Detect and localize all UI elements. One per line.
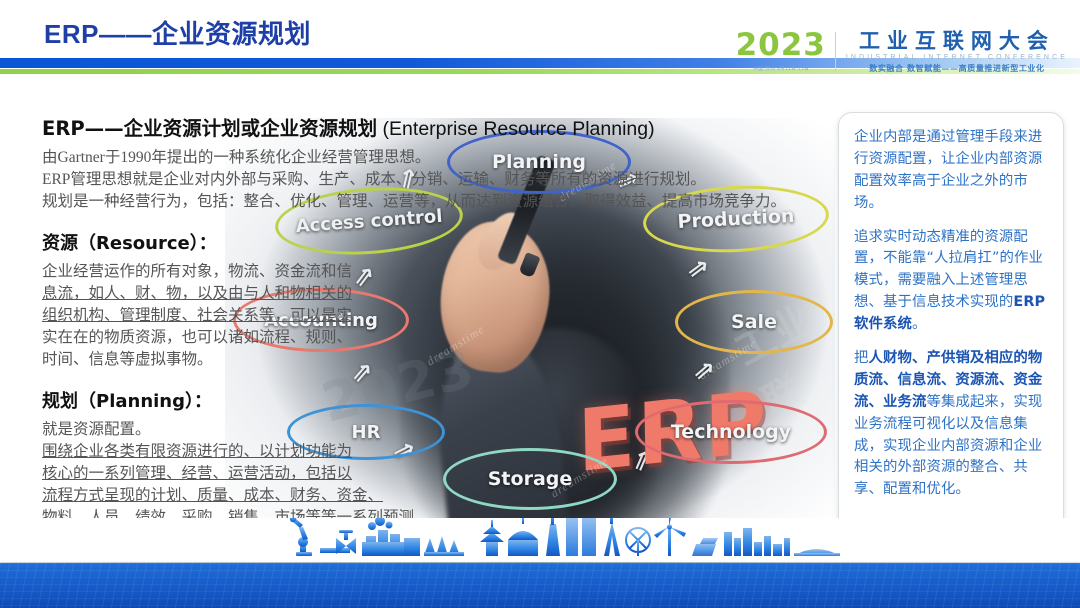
intro-line: ERP管理思想就是企业对内外部与采购、生产、成本、分销、运输、财务等所有的资源进…	[42, 169, 782, 191]
summary-paragraph: 企业内部是通过管理手段来进行资源配置，让企业内部资源配置效率高于企业之外的市场。	[854, 127, 1050, 215]
logo-name-block: 工业互联网大会 INDUSTRIAL INTERNET CONFERENCE 数…	[836, 30, 1068, 74]
resource-line: 企业经营运作的所有对象，物流、资金流和信	[42, 261, 782, 283]
content-heading-cn: ERP——企业资源计划或企业资源规划	[42, 117, 377, 140]
content-heading: ERP——企业资源计划或企业资源规划 (Enterprise Resource …	[42, 112, 782, 141]
planning-line: 流程方式呈现的计划、质量、成本、财务、资金、	[42, 485, 782, 507]
summary-paragraph: 追求实时动态精准的资源配置，不能靠“人拉肩扛”的作业模式，需要融入上述管理思想、…	[854, 227, 1050, 336]
resource-line: 时间、信息等虚拟事物。	[42, 349, 782, 371]
resource-line: 组织机构、管理制度、社会关系等，可以是实	[42, 305, 782, 327]
slide-root: ERP——企业资源规划 2023 中国·苏州 8月11日-13日 工业互联网大会…	[0, 0, 1080, 608]
summary-run: 把	[854, 350, 869, 366]
logo-slogan: 数实融合 数智赋能——高质量推进新型工业化	[846, 63, 1068, 74]
section-heading-resource: 资源（Resource）：	[42, 229, 782, 255]
summary-run: 企业内部是通过管理手段来进行资源配置，让企业内部资源配置效率高于企业之外的市场。	[854, 129, 1042, 211]
summary-card: 企业内部是通过管理手段来进行资源配置，让企业内部资源配置效率高于企业之外的市场。…	[838, 112, 1064, 536]
resource-line: 息流，如人、财、物，以及由与人和物相关的	[42, 283, 782, 305]
planning-line: 核心的一系列管理、经营、运营活动，包括以	[42, 463, 782, 485]
footer-ground	[0, 563, 1080, 608]
logo-name-en: INDUSTRIAL INTERNET CONFERENCE	[846, 54, 1068, 61]
section-heading-planning: 规划（Planning）：	[42, 387, 782, 413]
summary-paragraph: 把人财物、产供销及相应的物质流、信息流、资源流、资金流、业务流等集成起来，实现业…	[854, 348, 1050, 501]
page-title: ERP——企业资源规划	[44, 14, 311, 51]
content-heading-en: (Enterprise Resource Planning)	[377, 118, 654, 140]
body-content: ERP——企业资源计划或企业资源规划 (Enterprise Resource …	[42, 112, 782, 551]
skyline-icon	[0, 518, 1080, 564]
logo-date: 中国·苏州 8月11日-13日	[738, 65, 824, 72]
logo-name-cn: 工业互联网大会	[846, 30, 1068, 52]
logo-year: 2023	[736, 30, 826, 61]
intro-line: 规划是一种经营行为，包括：整合、优化、管理、运营等，从而达到资源组合、取得效益、…	[42, 191, 782, 213]
logo-year-block: 2023 中国·苏州 8月11日-13日	[736, 30, 835, 72]
summary-run: 。	[912, 316, 927, 332]
planning-line: 围绕企业各类有限资源进行的、以计划功能为	[42, 441, 782, 463]
planning-line: 就是资源配置。	[42, 419, 782, 441]
resource-line: 实在在的物质资源，也可以诸如流程、规则、	[42, 327, 782, 349]
footer-decoration	[0, 518, 1080, 608]
conference-logo: 2023 中国·苏州 8月11日-13日 工业互联网大会 INDUSTRIAL …	[736, 30, 1068, 74]
intro-line: 由Gartner于1990年提出的一种系统化企业经营管理思想。	[42, 147, 782, 169]
